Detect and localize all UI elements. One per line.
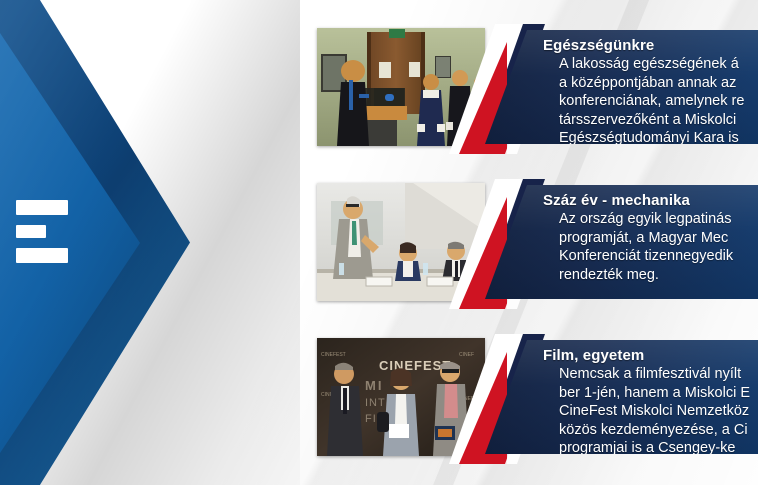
card-text-line: Nemcsak a filmfesztivál nyílt	[559, 365, 758, 384]
photo-cinefest-illustration: CINEFEST CINEFEST CINEFEST CINEF CINEF C…	[317, 338, 485, 456]
card-text-line: társszervezőként a Miskolci	[559, 111, 758, 130]
card-text-panel: Film, egyetem Nemcsak a filmfesztivál ny…	[485, 340, 758, 454]
card-text-line: Egészségtudományi Kara is	[559, 129, 758, 144]
logo-bar-middle-icon	[16, 225, 46, 238]
card-photo[interactable]	[317, 28, 485, 146]
card-title: Száz év - mechanika	[543, 191, 758, 210]
card-content: Film, egyetem Nemcsak a filmfesztivál ny…	[485, 340, 758, 454]
photo-panel-discussion-illustration	[317, 183, 485, 301]
card-body-text: A lakosság egészségének á a középpontjáb…	[543, 55, 758, 144]
logo-bar-bottom-icon	[16, 248, 68, 263]
card-text-line: programját, a Magyar Mec	[559, 229, 758, 248]
card-title: Egészségünkre	[543, 36, 758, 55]
card-text-line: közös kezdeményezése, a Ci	[559, 421, 758, 440]
card-content: Egészségünkre A lakosság egészségének á …	[485, 30, 758, 144]
card-text-line: ber 1-jén, hanem a Miskolci E	[559, 384, 758, 403]
brand-chevron-panel	[0, 0, 300, 485]
card-text-line: programjai is a Csengey-ke	[559, 439, 758, 454]
card-photo[interactable]	[317, 183, 485, 301]
logo-bar-top-icon	[16, 200, 68, 215]
photo-podium-illustration	[317, 28, 485, 146]
svg-text:CINEF: CINEF	[459, 352, 474, 358]
card-body-text: Nemcsak a filmfesztivál nyílt ber 1-jén,…	[543, 365, 758, 454]
svg-text:MI: MI	[365, 378, 383, 393]
logo-bars-icon	[16, 200, 126, 273]
card-text-line: konferenciának, amelynek re	[559, 92, 758, 111]
card-text-line: CineFest Miskolci Nemzetköz	[559, 402, 758, 421]
card-text-panel: Száz év - mechanika Az ország egyik legp…	[485, 185, 758, 299]
card-text-line: Konferenciát tizennegyedik	[559, 247, 758, 266]
card-content: Száz év - mechanika Az ország egyik legp…	[485, 185, 758, 284]
card-text-line: Az ország egyik legpatinás	[559, 210, 758, 229]
card-text-line: A lakosság egészségének á	[559, 55, 758, 74]
card-body-text: Az ország egyik legpatinás programját, a…	[543, 210, 758, 284]
card-title: Film, egyetem	[543, 346, 758, 365]
svg-text:CINEFEST: CINEFEST	[321, 352, 346, 358]
card-text-line: a középpontjában annak az	[559, 74, 758, 93]
card-text-line: rendezték meg.	[559, 266, 758, 285]
card-photo[interactable]: CINEFEST CINEFEST CINEFEST CINEF CINEF C…	[317, 338, 485, 456]
slide-canvas: Egészségünkre A lakosság egészségének á …	[0, 0, 758, 485]
svg-text:INT: INT	[365, 397, 386, 409]
card-text-panel: Egészségünkre A lakosság egészségének á …	[485, 30, 758, 144]
